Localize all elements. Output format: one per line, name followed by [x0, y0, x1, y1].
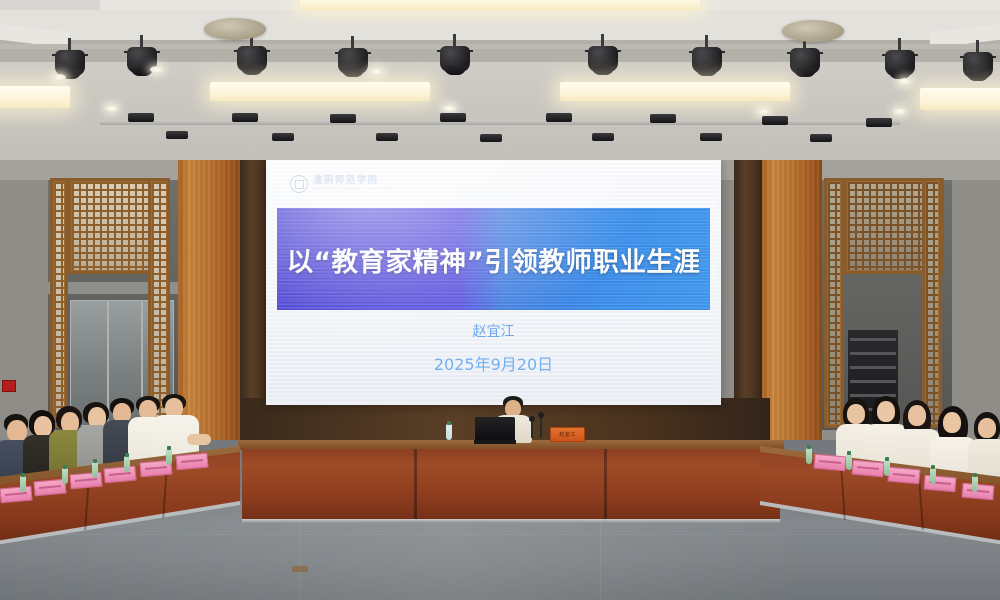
right-nameplate-1 [813, 454, 846, 472]
left-water-bottle-4 [124, 456, 130, 472]
spotlight-6 [588, 44, 618, 78]
right-lattice-screen-outer [922, 178, 942, 428]
right-water-bottle-2 [846, 454, 852, 470]
right-water-bottle-1 [806, 448, 812, 464]
spotlight-4 [338, 46, 368, 80]
ceiling-fixture-8 [480, 134, 502, 142]
fire-alarm-box [2, 380, 16, 392]
university-seal-icon [290, 175, 308, 193]
left-water-bottle-3 [92, 462, 98, 478]
right-nameplate-4 [923, 475, 956, 493]
logo-english-name: HUAIYIN NORMAL UNIVERSITY [313, 188, 404, 192]
light-cove-center-left [210, 82, 430, 101]
downlight-1 [53, 74, 66, 81]
light-cove-far-top [300, 0, 700, 10]
downlight-3 [150, 66, 163, 73]
downlight-4 [370, 68, 383, 75]
left-water-bottle-1 [20, 476, 26, 492]
microphone-secondary [531, 420, 533, 438]
laptop[interactable] [474, 417, 516, 443]
spotlight-5 [440, 44, 470, 78]
right-wood-column [762, 150, 822, 450]
downlight-8 [757, 108, 770, 115]
ceiling-speaker-right [782, 20, 844, 42]
left-water-bottle-5 [166, 449, 172, 465]
left-nameplate-6 [175, 453, 208, 471]
spotlight-10 [963, 50, 993, 84]
ceiling-fixture-15 [866, 118, 892, 127]
ceiling-fixture-13 [762, 116, 788, 125]
logo-chinese-name: 淮阴师范学院 [313, 176, 404, 186]
left-nameplate-1 [0, 486, 33, 504]
ceiling-fixture-1 [128, 113, 154, 122]
projection-screen[interactable]: 淮阴师范学院 HUAIYIN NORMAL UNIVERSITY 以“教育家精神… [269, 161, 718, 401]
microphone-presenter [540, 416, 542, 438]
ceiling-fixture-9 [546, 113, 572, 122]
right-water-bottle-5 [972, 476, 978, 492]
ceiling-fixture-4 [272, 133, 294, 141]
head-table[interactable] [238, 440, 784, 530]
presenter-nameplate-text: 赵宜江 [553, 430, 582, 439]
head [877, 401, 895, 422]
projection-screen-frame: 淮阴师范学院 HUAIYIN NORMAL UNIVERSITY 以“教育家精神… [266, 157, 721, 405]
right-nameplate-2 [851, 460, 884, 478]
ceiling-fixture-5 [330, 114, 356, 123]
ceiling-slab-main [0, 10, 1000, 44]
ceiling-fixture-11 [650, 114, 676, 123]
left-lattice-screen-outer [50, 178, 68, 428]
downlight-2 [105, 105, 118, 112]
slide-date: 2025年9月20日 [269, 351, 718, 375]
ceiling-fixture-2 [166, 131, 188, 139]
ceiling-fixture-14 [810, 134, 832, 142]
right-lattice-screen-inner [824, 178, 844, 428]
ceiling-fixture-3 [232, 113, 258, 122]
left-nameplate-4 [103, 466, 136, 484]
presenter-water-bottle [446, 424, 452, 440]
ceiling-fixture-10 [592, 133, 614, 141]
head-table-seam-right [604, 449, 607, 521]
light-cove-left [0, 86, 70, 108]
head [908, 405, 926, 426]
head [978, 418, 996, 438]
floor-access-plate [292, 566, 308, 572]
spotlight-2 [127, 45, 157, 79]
downlight-6 [898, 78, 911, 85]
left-lattice-screen-inner [148, 178, 170, 428]
slide-university-logo: 淮阴师范学院 HUAIYIN NORMAL UNIVERSITY [290, 175, 404, 193]
ceiling-speaker-left [204, 18, 266, 40]
conference-hall-photo: 淮阴师范学院 HUAIYIN NORMAL UNIVERSITY 以“教育家精神… [0, 0, 1000, 600]
spotlight-8 [790, 46, 820, 80]
right-water-bottle-3 [884, 460, 890, 476]
presenter-nameplate: 赵宜江 [550, 427, 585, 442]
slide-title: 以“教育家精神”引领教师职业生涯 [277, 208, 710, 310]
head-table-seam-left [414, 449, 417, 521]
head [943, 412, 961, 433]
right-nameplate-3 [887, 467, 920, 485]
spotlight-7 [692, 45, 722, 79]
arm [187, 434, 211, 445]
slide-presenter-name: 赵宜江 [269, 321, 718, 341]
right-water-bottle-4 [930, 468, 936, 484]
light-cove-center-right [560, 82, 790, 101]
spotlight-3 [237, 44, 267, 78]
head-table-front-panels [242, 449, 780, 521]
ceiling-fixture-12 [700, 133, 722, 141]
slide-title-band: 以“教育家精神”引领教师职业生涯 [277, 208, 710, 310]
downlight-5 [443, 105, 456, 112]
left-water-bottle-2 [62, 468, 68, 484]
ceiling-fixture-6 [376, 133, 398, 141]
ceiling [0, 0, 1000, 160]
ceiling-fixture-7 [440, 113, 466, 122]
spotlight-9 [885, 48, 915, 82]
right-nameplate-5 [961, 483, 994, 501]
head-table-kick-strip [242, 519, 780, 523]
downlight-7 [893, 108, 906, 115]
head [847, 404, 865, 424]
light-cove-right [920, 88, 1000, 110]
